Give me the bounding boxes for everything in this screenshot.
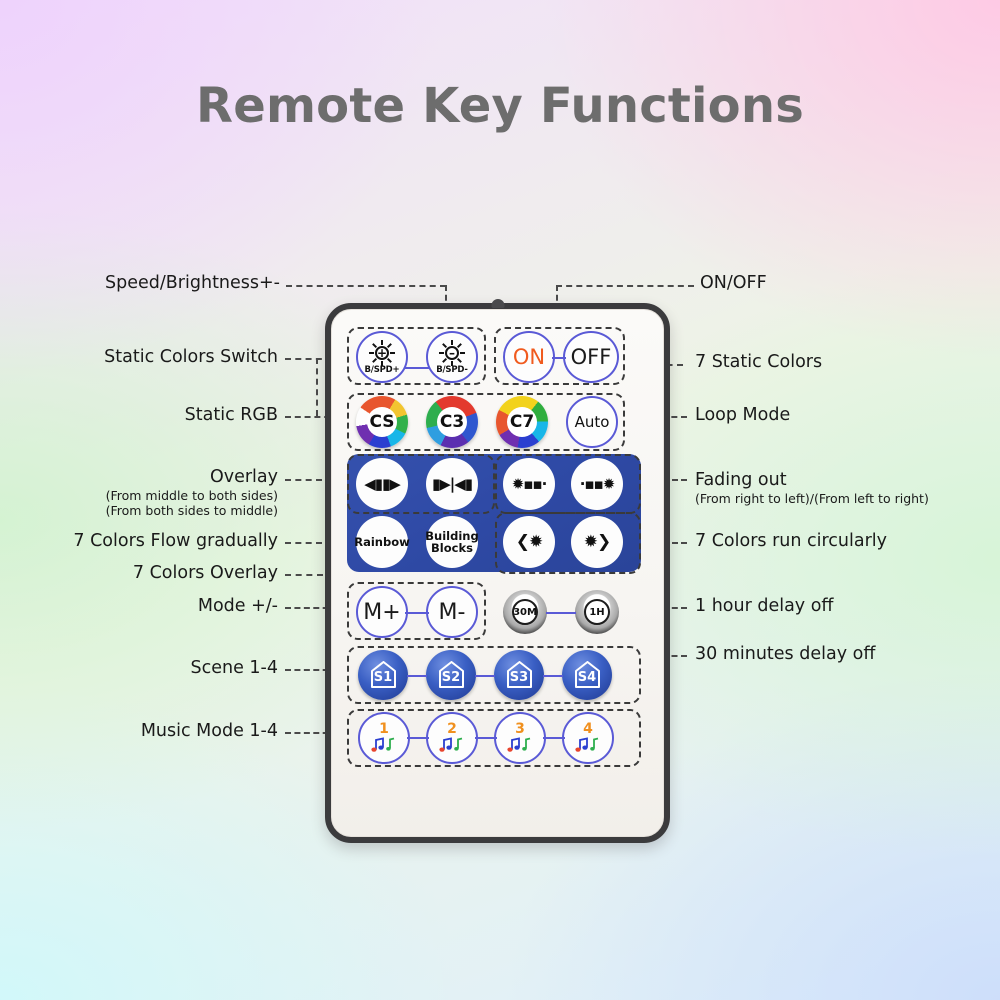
music-note-icon xyxy=(371,737,397,757)
key-fade-right-to-left[interactable]: ✹▪▪· xyxy=(503,458,555,510)
callout-overlay-sub2: (From both sides to middle) xyxy=(0,503,278,518)
arrows-inward-icon: ▮▶|◀▮ xyxy=(432,478,472,490)
key-building-blocks[interactable]: BuildingBlocks xyxy=(426,516,478,568)
key-scene-s4-label: S4 xyxy=(574,670,601,685)
callout-loop-mode: Loop Mode xyxy=(695,405,790,426)
callout-7-colors-flow: 7 Colors Flow gradually xyxy=(0,531,278,552)
key-rainbow[interactable]: Rainbow xyxy=(356,516,408,568)
callout-1h-delay: 1 hour delay off xyxy=(695,596,834,617)
callout-7-colors-overlay: 7 Colors Overlay xyxy=(0,563,278,584)
key-auto[interactable]: Auto xyxy=(566,396,618,448)
key-overlay-outward[interactable]: ◀▮▮▶ xyxy=(356,458,408,510)
key-mode-minus-label: M- xyxy=(439,600,466,625)
key-color-cs[interactable]: CS xyxy=(356,396,408,448)
key-timer-30m-label: 30M xyxy=(512,599,538,625)
key-music-4-label: 4 xyxy=(583,723,593,736)
key-music-2-label: 2 xyxy=(447,723,457,736)
callout-static-rgb: Static RGB xyxy=(0,405,278,426)
sun-minus-icon: – xyxy=(441,342,463,364)
music-note-icon xyxy=(439,737,465,757)
callout-7-static-colors: 7 Static Colors xyxy=(695,352,822,373)
key-color-c7[interactable]: C7 xyxy=(496,396,548,448)
key-music-1-label: 1 xyxy=(379,723,389,736)
callout-scene: Scene 1-4 xyxy=(0,658,278,679)
callout-fading-out-sub: (From right to left)/(From left to right… xyxy=(695,491,929,506)
star-right-icon: ✹❯ xyxy=(584,536,611,548)
link-timers xyxy=(546,612,576,614)
key-scene-s4[interactable]: S4 xyxy=(562,650,612,700)
key-run-right[interactable]: ✹❯ xyxy=(571,516,623,568)
callout-7-colors-circular: 7 Colors run circularly xyxy=(695,531,887,552)
house-icon: S2 xyxy=(438,661,465,689)
link-music-2-3 xyxy=(475,737,497,739)
key-scene-s1[interactable]: S1 xyxy=(358,650,408,700)
key-music-3[interactable]: 3 xyxy=(494,712,546,764)
key-music-3-label: 3 xyxy=(515,723,525,736)
fade-left-to-right-icon: ·▪▪✹ xyxy=(580,478,615,490)
link-brightness xyxy=(405,367,429,369)
key-scene-s3[interactable]: S3 xyxy=(494,650,544,700)
link-music-3-4 xyxy=(543,737,565,739)
key-auto-label: Auto xyxy=(575,413,610,431)
link-music-1-2 xyxy=(407,737,429,739)
star-left-icon: ❮✹ xyxy=(516,536,543,548)
key-rainbow-label: Rainbow xyxy=(354,536,410,548)
key-scene-s1-label: S1 xyxy=(370,670,397,685)
house-icon: S1 xyxy=(370,661,397,689)
key-blocks-label: Blocks xyxy=(431,541,473,555)
link-power xyxy=(552,357,566,359)
key-color-c3[interactable]: C3 xyxy=(426,396,478,448)
callout-mode-plus-minus: Mode +/- xyxy=(0,596,278,617)
key-mode-plus-label: M+ xyxy=(363,600,400,625)
connector-speed-brightness xyxy=(286,285,446,287)
key-music-4[interactable]: 4 xyxy=(562,712,614,764)
house-icon: S3 xyxy=(506,661,533,689)
fade-right-to-left-icon: ✹▪▪· xyxy=(512,478,547,490)
key-color-cs-label: CS xyxy=(367,407,397,437)
key-fade-left-to-right[interactable]: ·▪▪✹ xyxy=(571,458,623,510)
key-power-off-label: OFF xyxy=(571,345,612,369)
link-scene-2-3 xyxy=(475,675,495,677)
key-mode-plus[interactable]: M+ xyxy=(356,586,408,638)
page-title: Remote Key Functions xyxy=(0,78,1000,134)
key-mode-minus[interactable]: M- xyxy=(426,586,478,638)
key-power-on-label: ON xyxy=(513,345,545,369)
key-scene-s3-label: S3 xyxy=(506,670,533,685)
callout-overlay-sub1: (From middle to both sides) xyxy=(0,488,278,503)
key-run-left[interactable]: ❮✹ xyxy=(503,516,555,568)
key-timer-1h[interactable]: 1H xyxy=(575,590,619,634)
key-music-1[interactable]: 1 xyxy=(358,712,410,764)
key-scene-s2[interactable]: S2 xyxy=(426,650,476,700)
connector-onoff xyxy=(556,285,694,287)
key-music-2[interactable]: 2 xyxy=(426,712,478,764)
callout-30m-delay: 30 minutes delay off xyxy=(695,644,875,665)
key-timer-1h-label: 1H xyxy=(584,599,610,625)
key-scene-s2-label: S2 xyxy=(438,670,465,685)
callout-music-mode: Music Mode 1-4 xyxy=(0,721,278,742)
key-overlay-inward[interactable]: ▮▶|◀▮ xyxy=(426,458,478,510)
callout-speed-brightness: Speed/Brightness+- xyxy=(0,273,280,294)
music-note-icon xyxy=(575,737,601,757)
link-scene-3-4 xyxy=(543,675,563,677)
callout-onoff: ON/OFF xyxy=(700,273,767,294)
link-mode xyxy=(405,612,429,614)
key-brightness-down-label: B/SPD- xyxy=(436,365,467,375)
key-power-on[interactable]: ON xyxy=(503,331,555,383)
link-scene-1-2 xyxy=(407,675,427,677)
key-color-c7-label: C7 xyxy=(507,407,537,437)
key-timer-30m[interactable]: 30M xyxy=(503,590,547,634)
ir-led-icon xyxy=(491,299,504,308)
key-brightness-down[interactable]: – B/SPD- xyxy=(426,331,478,383)
callout-overlay: Overlay (From middle to both sides) (Fro… xyxy=(0,467,278,518)
music-note-icon xyxy=(507,737,533,757)
callout-fading-out: Fading out (From right to left)/(From le… xyxy=(695,470,929,506)
key-power-off[interactable]: OFF xyxy=(563,331,619,383)
house-icon: S4 xyxy=(574,661,601,689)
sun-plus-icon: + xyxy=(371,342,393,364)
key-brightness-up[interactable]: + B/SPD+ xyxy=(356,331,408,383)
remote-control-body: + B/SPD+ – B/SPD- ON xyxy=(325,303,670,843)
arrows-outward-icon: ◀▮▮▶ xyxy=(364,478,400,490)
key-color-c3-label: C3 xyxy=(437,407,467,437)
connector-static-switch-v xyxy=(316,358,318,416)
callout-static-colors-switch: Static Colors Switch xyxy=(0,347,278,368)
key-brightness-up-label: B/SPD+ xyxy=(365,365,400,375)
